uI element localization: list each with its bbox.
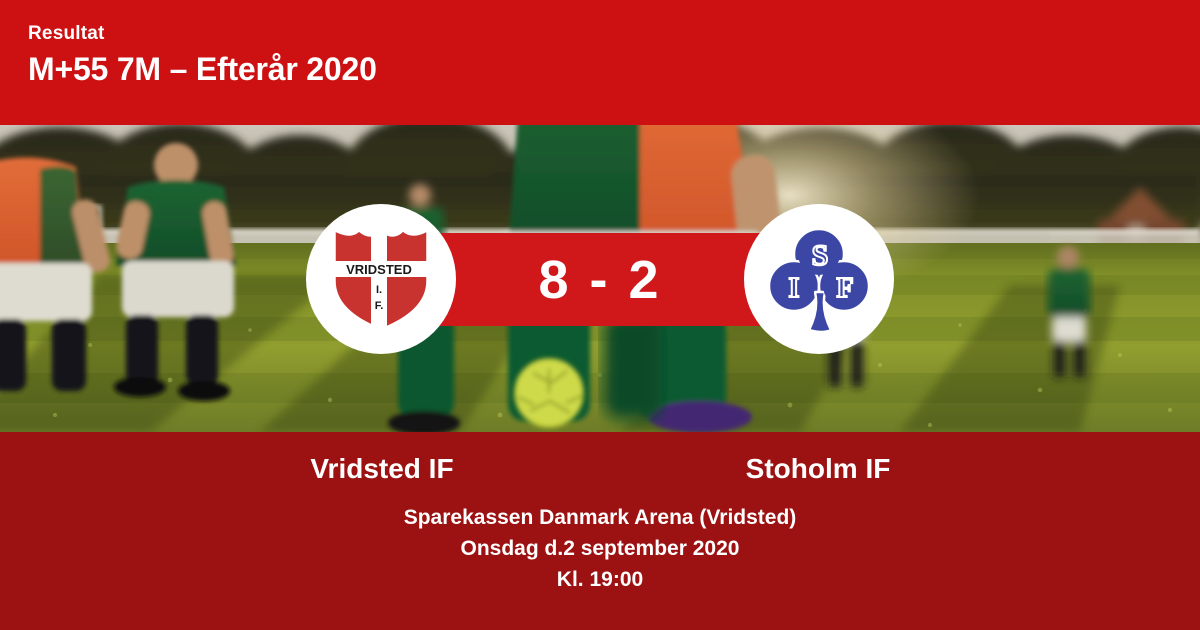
crest-text-main: VRIDSTED [346,262,412,277]
card-header: Resultat M+55 7M – Efterår 2020 [0,0,1200,125]
match-date: Onsdag d.2 september 2020 [0,533,1200,564]
crest-letter-s: S [812,239,829,272]
crest-text-sub1: I. [376,284,382,296]
home-team-name: Vridsted IF [226,446,538,492]
away-team-crest: S I F [744,204,894,354]
match-details-panel: Vridsted IF Stoholm IF Sparekassen Danma… [0,432,1200,630]
match-venue: Sparekassen Danmark Arena (Vridsted) [0,502,1200,533]
header-kicker: Resultat [28,24,1200,43]
stoholm-if-crest-icon: S I F [765,224,873,334]
team-names-row: Vridsted IF Stoholm IF [0,446,1200,492]
score-value: 8 - 2 [538,253,661,307]
score-banner: 8 - 2 [440,233,760,326]
page-title: M+55 7M – Efterår 2020 [28,53,1200,87]
away-team-name: Stoholm IF [662,446,974,492]
vridsted-if-crest-icon: VRIDSTED I. F. [329,223,433,335]
home-team-crest: VRIDSTED I. F. [306,204,456,354]
crest-letter-i: I [789,273,800,304]
match-info-block: Sparekassen Danmark Arena (Vridsted) Ons… [0,502,1200,595]
result-card: Resultat M+55 7M – Efterår 2020 [0,0,1200,630]
match-time: Kl. 19:00 [0,564,1200,595]
crest-text-sub2: F. [375,300,384,312]
crest-letter-f: F [836,273,853,304]
